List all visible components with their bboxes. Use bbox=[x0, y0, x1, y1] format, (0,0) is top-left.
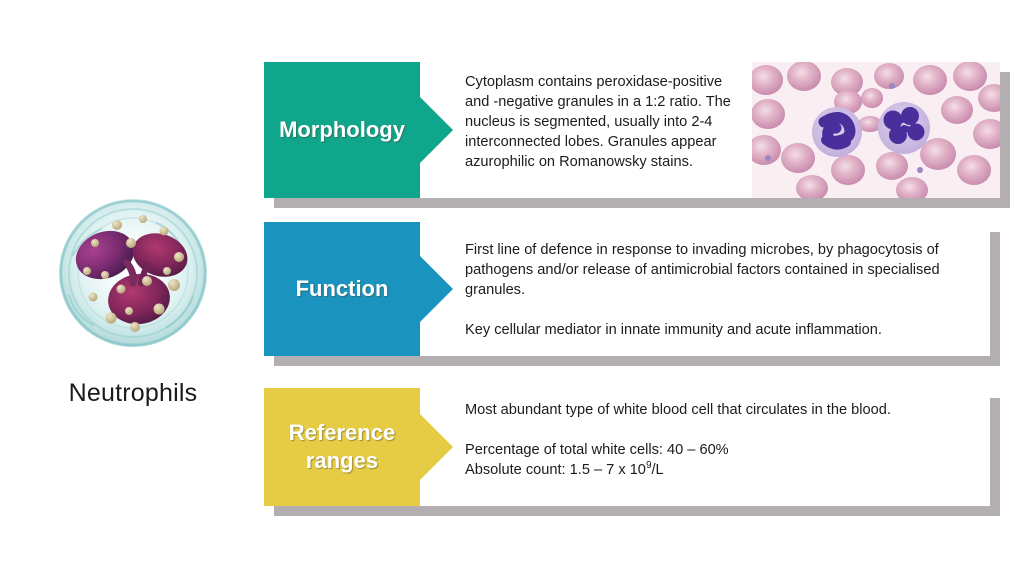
paragraph: Most abundant type of white blood cell t… bbox=[465, 400, 965, 420]
panel-body: Morphology Cytoplasm contains peroxidase… bbox=[264, 62, 1000, 198]
panel-text-morphology: Cytoplasm contains peroxidase-positive a… bbox=[465, 72, 750, 172]
panel-text-reference: Most abundant type of white blood cell t… bbox=[465, 400, 965, 480]
panel-label-text: Reference ranges bbox=[289, 419, 395, 475]
panel-body: Reference ranges Most abundant type of w… bbox=[264, 388, 990, 506]
panel-text-function: First line of defence in response to inv… bbox=[465, 240, 965, 340]
panel-reference: Reference ranges Most abundant type of w… bbox=[264, 388, 990, 506]
absolute-count-line: Absolute count: 1.5 – 7 x 109/L bbox=[465, 460, 965, 480]
panel-morphology: Morphology Cytoplasm contains peroxidase… bbox=[264, 62, 1000, 198]
neutrophil-3d-illustration bbox=[43, 185, 223, 365]
neutrophil-figure: Neutrophils bbox=[28, 185, 238, 408]
arrow-pointer-icon bbox=[420, 97, 453, 163]
paragraph: Key cellular mediator in innate immunity… bbox=[465, 320, 965, 340]
cell-caption: Neutrophils bbox=[28, 379, 238, 408]
absolute-count-suffix: /L bbox=[652, 462, 664, 478]
absolute-count-prefix: Absolute count: 1.5 – 7 x 10 bbox=[465, 462, 646, 478]
panel-body: Function First line of defence in respon… bbox=[264, 222, 990, 356]
panel-label-morphology: Morphology bbox=[264, 62, 420, 198]
arrow-pointer-icon bbox=[420, 414, 453, 480]
panel-function: Function First line of defence in respon… bbox=[264, 222, 990, 356]
percentage-line: Percentage of total white cells: 40 – 60… bbox=[465, 440, 965, 460]
arrow-pointer-icon bbox=[420, 256, 453, 322]
panel-label-function: Function bbox=[264, 222, 420, 356]
blood-smear-neutrophils-photo bbox=[752, 62, 1000, 198]
paragraph: Cytoplasm contains peroxidase-positive a… bbox=[465, 72, 750, 172]
panel-label-line-1: Reference bbox=[289, 420, 395, 445]
paragraph: First line of defence in response to inv… bbox=[465, 240, 965, 300]
panel-label-line-2: ranges bbox=[306, 448, 378, 473]
panel-label-text: Morphology bbox=[279, 116, 405, 144]
panel-label-reference-ranges: Reference ranges bbox=[264, 388, 420, 506]
panel-label-text: Function bbox=[296, 275, 389, 303]
